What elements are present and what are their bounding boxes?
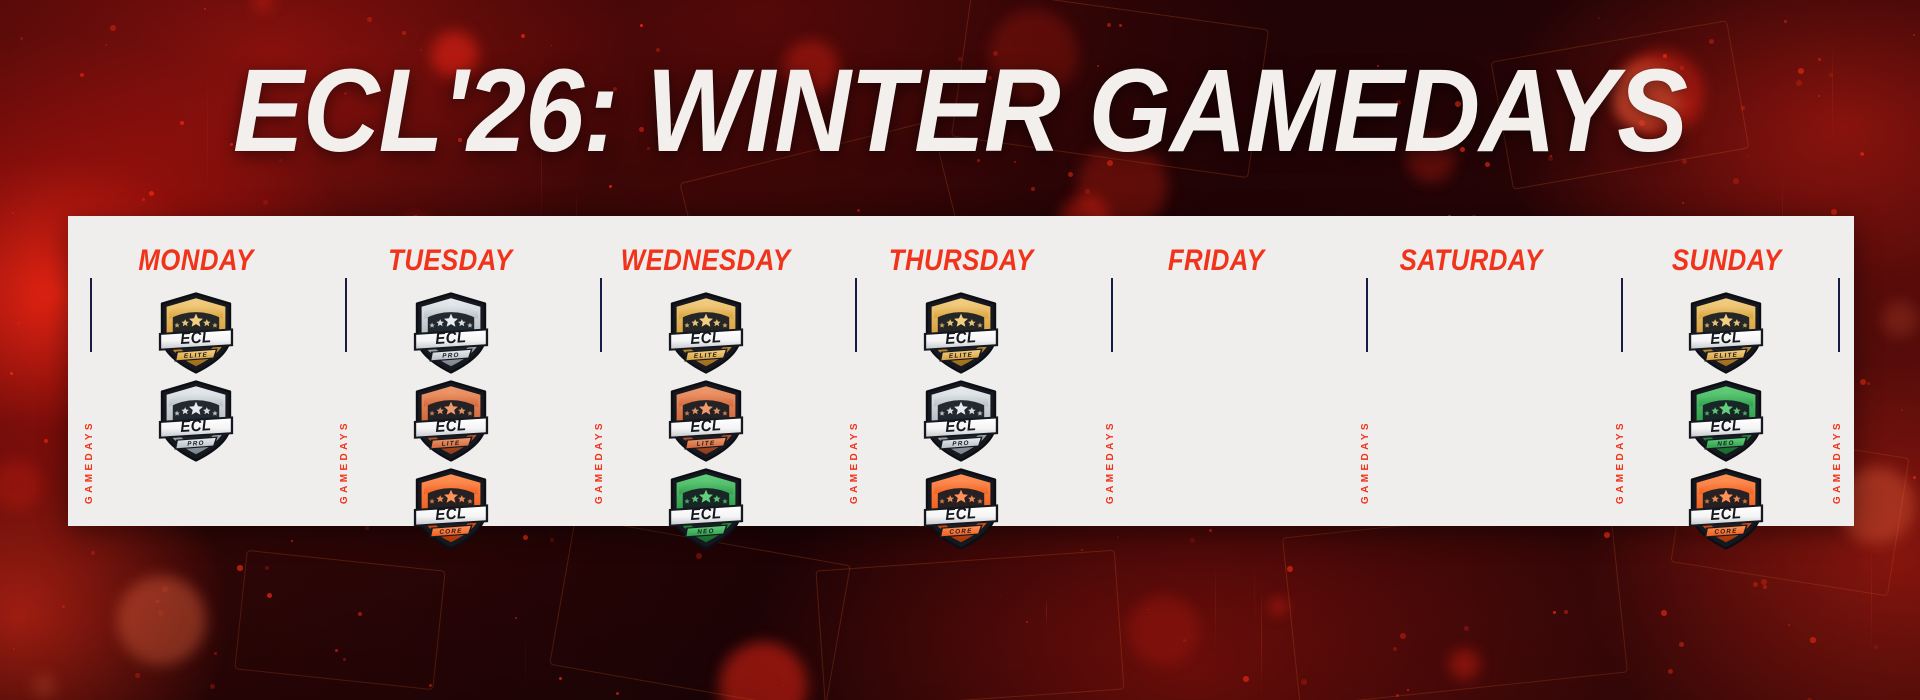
svg-text:ECL: ECL [179, 417, 211, 437]
svg-text:LITE: LITE [696, 440, 715, 448]
svg-text:ECL: ECL [690, 329, 722, 349]
logo-tuesday-core[interactable]: ECL CORE [412, 468, 490, 550]
gamedays-vertical-label: GAMEDAYS [849, 420, 860, 504]
divider-line [1838, 278, 1840, 352]
day-column-wednesday: GAMEDAYS WEDNESDAY [578, 216, 833, 526]
svg-text:ECL: ECL [945, 329, 977, 349]
svg-text:ECL: ECL [945, 505, 977, 525]
svg-text:ECL: ECL [1710, 329, 1742, 349]
logo-monday-pro[interactable]: ECL PRO [157, 380, 235, 462]
svg-text:CORE: CORE [439, 528, 463, 536]
svg-text:ELITE: ELITE [1714, 352, 1738, 360]
day-header-saturday: SATURDAY [1400, 244, 1543, 278]
day-column-monday: GAMEDAYS MONDAY E [68, 216, 323, 526]
svg-text:ECL: ECL [435, 329, 467, 349]
svg-text:LITE: LITE [441, 440, 460, 448]
day-header-friday: FRIDAY [1168, 244, 1265, 278]
divider-line [1366, 278, 1368, 352]
day-columns: GAMEDAYS MONDAY E [68, 216, 1854, 526]
ecl-shield-elite: ECL ELITE [667, 292, 745, 374]
svg-text:ELITE: ELITE [183, 352, 207, 360]
svg-text:ECL: ECL [179, 329, 211, 349]
svg-text:PRO: PRO [187, 440, 205, 448]
logo-sunday-elite[interactable]: ECL ELITE [1687, 292, 1765, 374]
svg-text:ECL: ECL [945, 417, 977, 437]
logo-thursday-elite[interactable]: ECL ELITE [922, 292, 1000, 374]
svg-text:NEO: NEO [1718, 440, 1736, 448]
page-title: ECL'26: WINTER GAMEDAYS [96, 52, 1824, 170]
divider-line [345, 278, 347, 352]
divider-line [90, 278, 92, 352]
day-header-sunday: SUNDAY [1672, 244, 1782, 278]
day-header-wednesday: WEDNESDAY [621, 244, 791, 278]
day-column-friday: GAMEDAYS FRIDAY [1089, 216, 1344, 526]
day-column-thursday: GAMEDAYS THURSDAY [833, 216, 1088, 526]
svg-text:PRO: PRO [952, 440, 970, 448]
svg-text:ECL: ECL [1710, 417, 1742, 437]
ecl-shield-elite: ECL ELITE [1687, 292, 1765, 374]
gamedays-vertical-label: GAMEDAYS [1360, 420, 1371, 504]
logo-sunday-neo[interactable]: ECL NEO [1687, 380, 1765, 462]
day-column-tuesday: GAMEDAYS TUESDAY [323, 216, 578, 526]
logo-sunday-core[interactable]: ECL CORE [1687, 468, 1765, 550]
day-header-monday: MONDAY [138, 244, 253, 278]
svg-text:CORE: CORE [1715, 528, 1739, 536]
logo-wednesday-neo[interactable]: ECL NEO [667, 468, 745, 550]
day-header-tuesday: TUESDAY [389, 244, 513, 278]
logo-monday-elite[interactable]: ECL ELITE [157, 292, 235, 374]
ecl-shield-pro: ECL PRO [922, 380, 1000, 462]
ecl-shield-core: ECL CORE [1687, 468, 1765, 550]
ecl-shield-lite: ECL LITE [667, 380, 745, 462]
day-column-saturday: GAMEDAYS SATURDAY [1344, 216, 1599, 526]
gamedays-vertical-label: GAMEDAYS [1615, 420, 1626, 504]
logo-stack-sunday: ECL ELITE ECL [1687, 292, 1765, 550]
svg-text:ECL: ECL [690, 505, 722, 525]
logo-tuesday-pro[interactable]: ECL PRO [412, 292, 490, 374]
gamedays-vertical-label: GAMEDAYS [1832, 420, 1843, 504]
ecl-shield-neo: ECL NEO [667, 468, 745, 550]
svg-text:ECL: ECL [1710, 505, 1742, 525]
logo-tuesday-lite[interactable]: ECL LITE [412, 380, 490, 462]
ecl-shield-core: ECL CORE [412, 468, 490, 550]
divider-line [855, 278, 857, 352]
logo-stack-thursday: ECL ELITE ECL [922, 292, 1000, 550]
ecl-shield-elite: ECL ELITE [157, 292, 235, 374]
svg-text:CORE: CORE [949, 528, 973, 536]
logo-stack-tuesday: ECL PRO ECL LI [412, 292, 490, 550]
gamedays-vertical-label: GAMEDAYS [84, 420, 95, 504]
ecl-shield-lite: ECL LITE [412, 380, 490, 462]
ecl-shield-pro: ECL PRO [412, 292, 490, 374]
ecl-shield-neo: ECL NEO [1687, 380, 1765, 462]
logo-wednesday-lite[interactable]: ECL LITE [667, 380, 745, 462]
divider-line [1111, 278, 1113, 352]
logo-thursday-core[interactable]: ECL CORE [922, 468, 1000, 550]
logo-wednesday-elite[interactable]: ECL ELITE [667, 292, 745, 374]
svg-text:NEO: NEO [697, 528, 715, 536]
svg-text:ECL: ECL [435, 417, 467, 437]
logo-thursday-pro[interactable]: ECL PRO [922, 380, 1000, 462]
day-column-sunday: GAMEDAYS SUNDAY E [1599, 216, 1854, 526]
divider-line [600, 278, 602, 352]
ecl-shield-elite: ECL ELITE [922, 292, 1000, 374]
svg-text:ECL: ECL [435, 505, 467, 525]
ecl-shield-core: ECL CORE [922, 468, 1000, 550]
svg-text:ELITE: ELITE [949, 352, 973, 360]
day-header-thursday: THURSDAY [889, 244, 1034, 278]
svg-text:ECL: ECL [690, 417, 722, 437]
svg-text:ELITE: ELITE [694, 352, 718, 360]
logo-stack-wednesday: ECL ELITE ECL [667, 292, 745, 550]
gamedays-vertical-label: GAMEDAYS [594, 420, 605, 504]
logo-stack-monday: ECL ELITE ECL [157, 292, 235, 462]
gamedays-vertical-label: GAMEDAYS [339, 420, 350, 504]
svg-text:PRO: PRO [442, 352, 460, 360]
gamedays-vertical-label: GAMEDAYS [1105, 420, 1116, 504]
ecl-shield-pro: ECL PRO [157, 380, 235, 462]
divider-line [1621, 278, 1623, 352]
gamedays-panel: GAMEDAYS MONDAY E [68, 216, 1854, 526]
